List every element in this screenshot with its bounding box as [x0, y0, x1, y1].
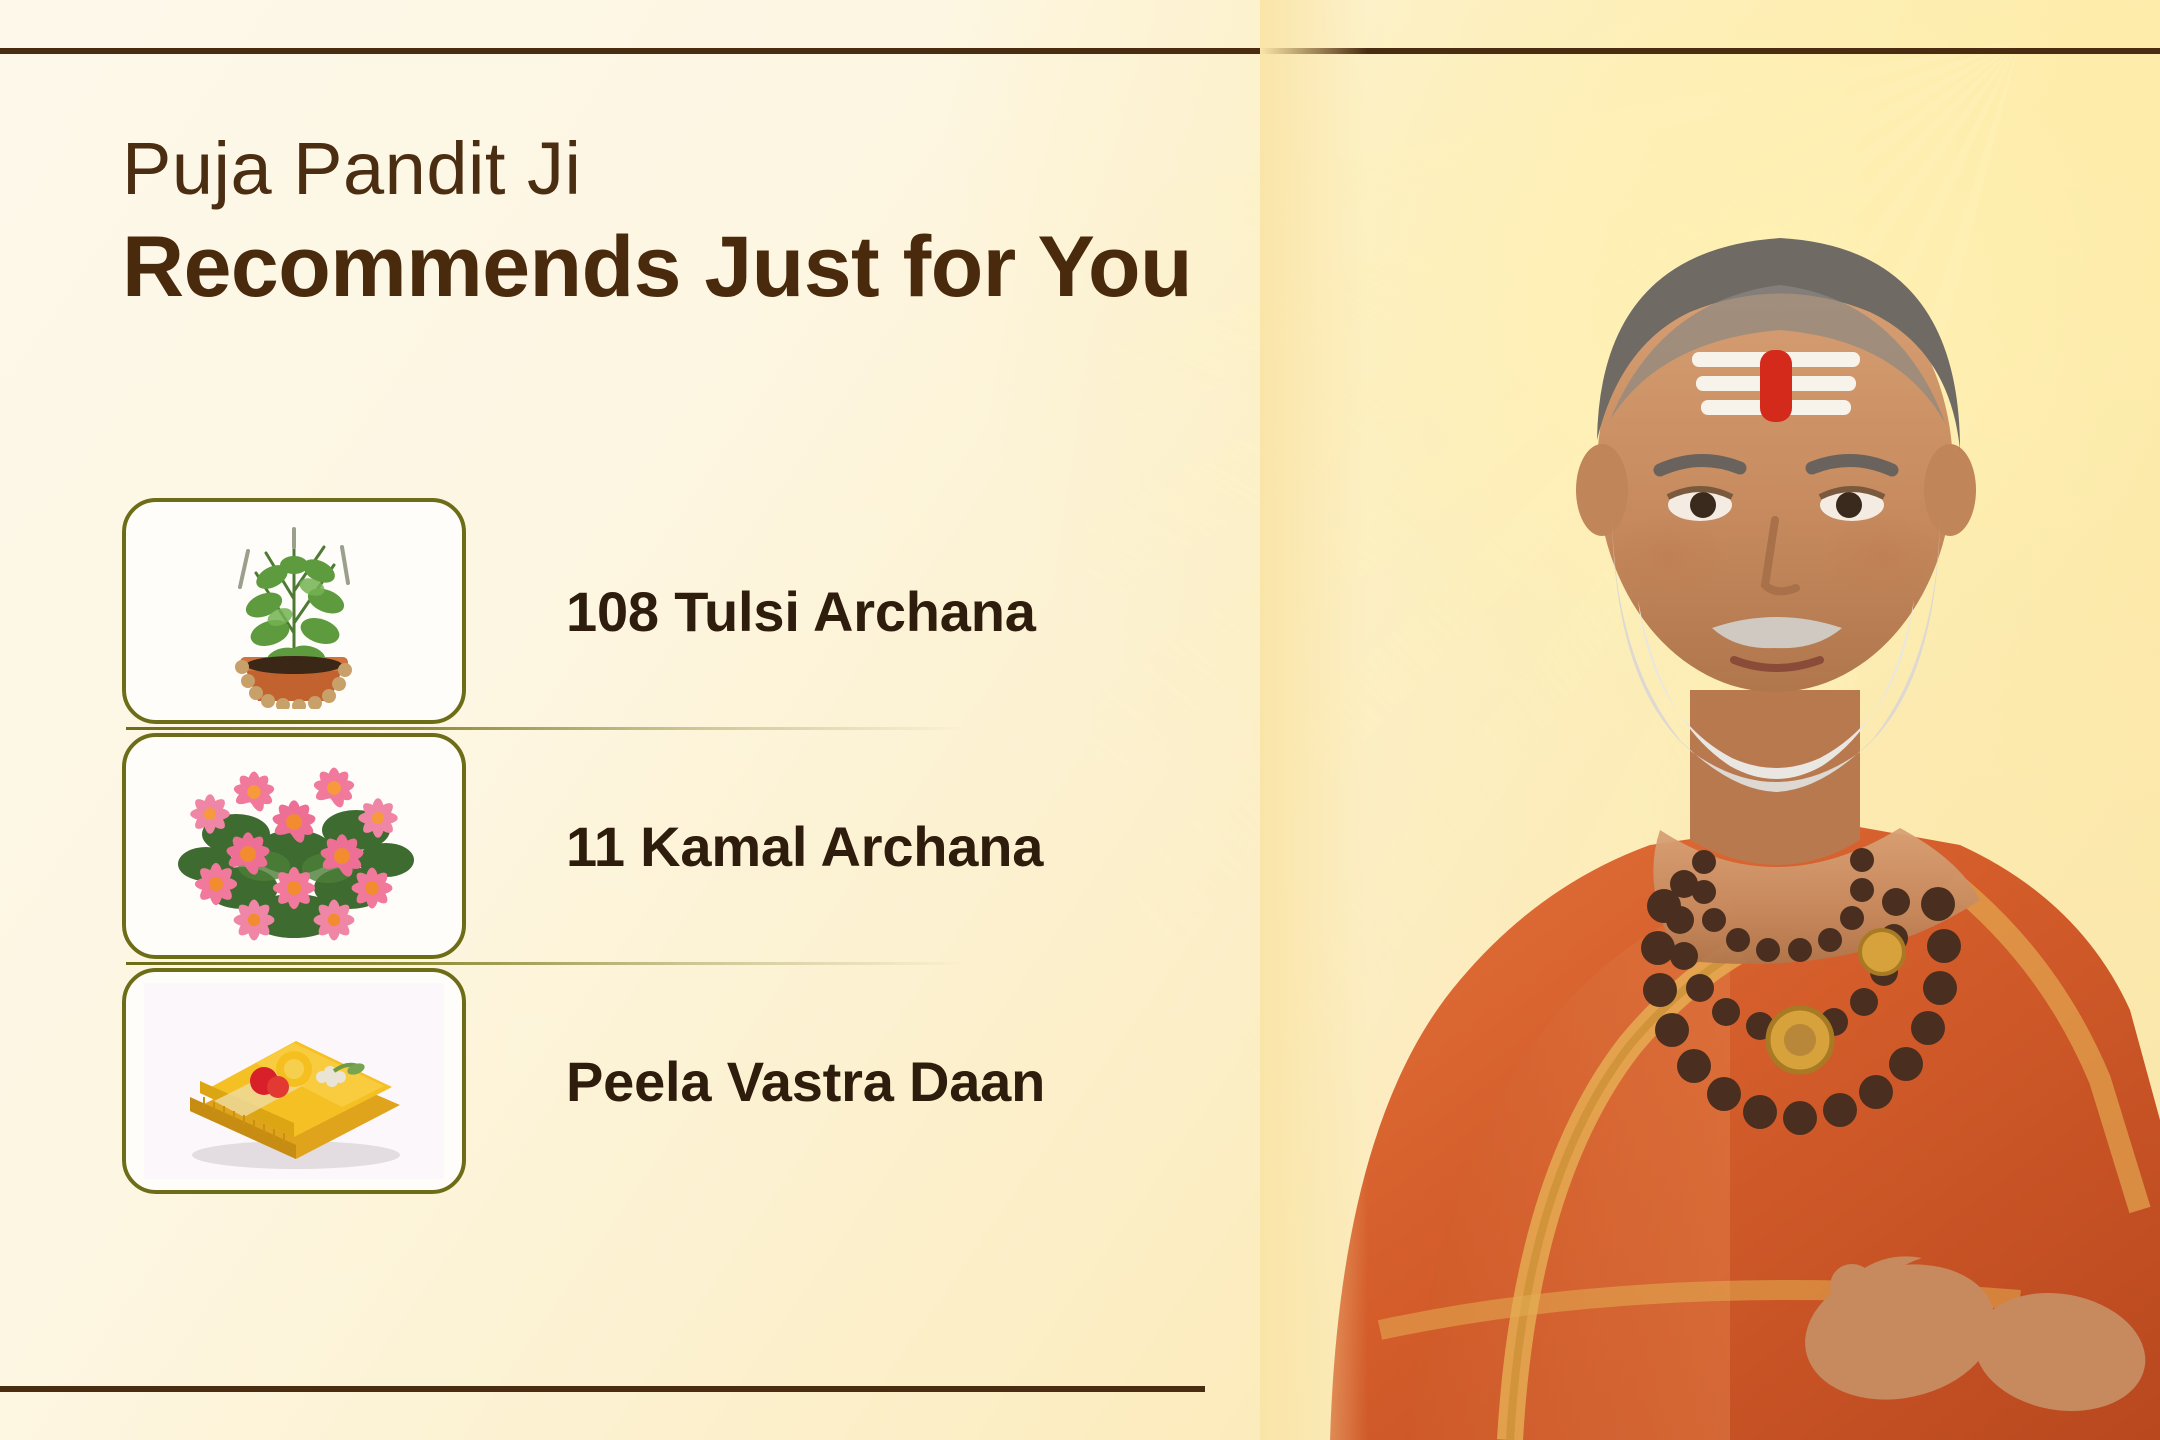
list-item[interactable]: 108 Tulsi Archana [122, 495, 1122, 727]
headline: Puja Pandit Ji Recommends Just for You [122, 132, 1202, 312]
content-column: Puja Pandit Ji Recommends Just for You [0, 0, 1250, 1440]
promo-banner: Puja Pandit Ji Recommends Just for You [0, 0, 2160, 1440]
recommendation-list: 108 Tulsi Archana [122, 495, 1122, 1197]
list-item[interactable]: 11 Kamal Archana [122, 730, 1122, 962]
headline-line-2: Recommends Just for You [122, 222, 1202, 312]
priest-portrait [1260, 0, 2160, 1440]
headline-line-1: Puja Pandit Ji [122, 132, 1202, 206]
list-item-label: 11 Kamal Archana [566, 814, 1043, 879]
list-item-label: Peela Vastra Daan [566, 1049, 1045, 1114]
tulsi-plant-in-pot-image [122, 498, 466, 724]
folded-yellow-cloth-image [122, 968, 466, 1194]
list-item-label: 108 Tulsi Archana [566, 579, 1036, 644]
pink-lotus-flowers-image [122, 733, 466, 959]
list-item[interactable]: Peela Vastra Daan [122, 965, 1122, 1197]
